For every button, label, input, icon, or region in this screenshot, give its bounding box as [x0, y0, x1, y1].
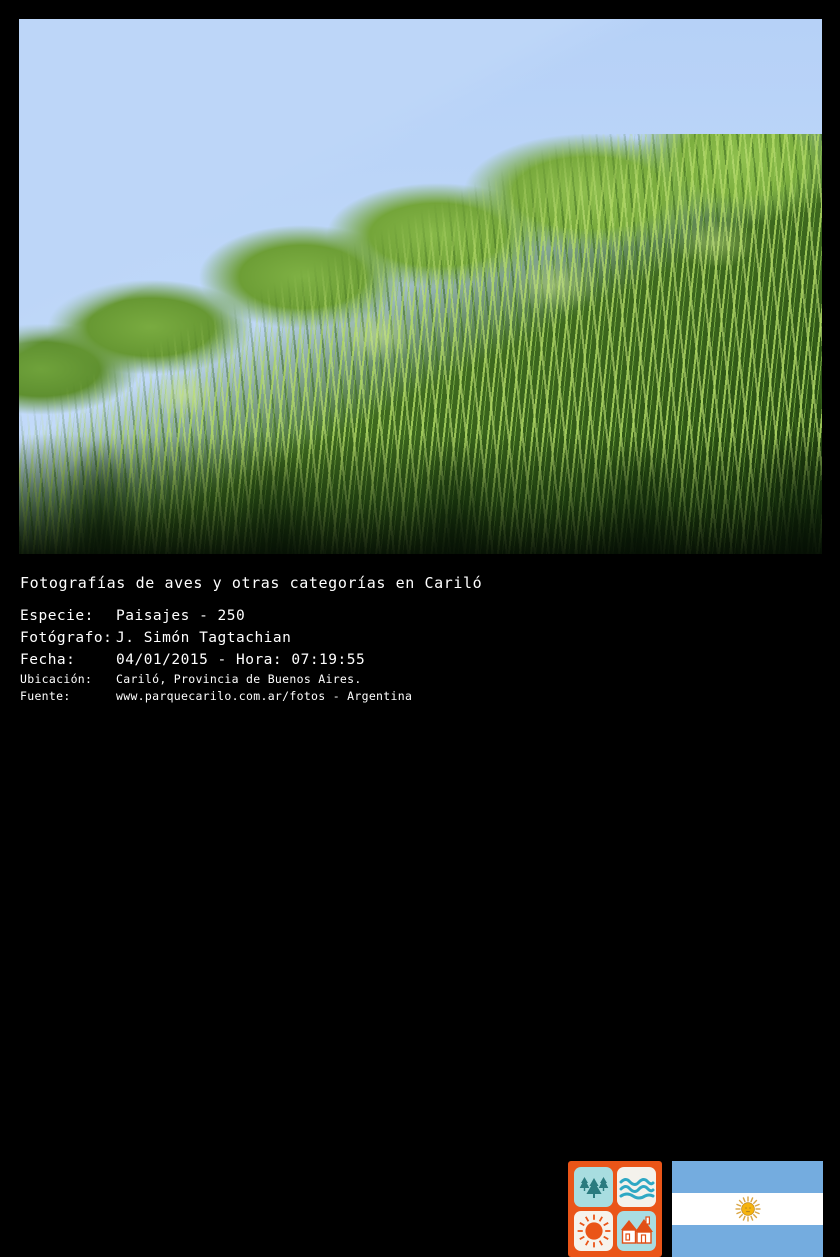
- table-row: Especie: Paisajes - 250: [20, 605, 412, 627]
- meta-label-ubicacion: Ubicación:: [20, 671, 116, 688]
- table-row: Fecha: 04/01/2015 - Hora: 07:19:55: [20, 649, 412, 671]
- logo-tile-house: [617, 1211, 656, 1251]
- flag-stripe-bottom: [672, 1225, 823, 1257]
- skyline-edge: [19, 19, 822, 439]
- logo-tile-sun: [574, 1211, 613, 1251]
- table-row: Ubicación: Cariló, Provincia de Buenos A…: [20, 671, 412, 688]
- meta-value-ubicacion: Cariló, Provincia de Buenos Aires.: [116, 671, 412, 688]
- page-title: Fotografías de aves y otras categorías e…: [20, 574, 482, 592]
- flag-stripe-top: [672, 1161, 823, 1193]
- meta-label-fotografo: Fotógrafo:: [20, 627, 116, 649]
- table-row: Fuente: www.parquecarilo.com.ar/fotos - …: [20, 688, 412, 705]
- meta-value-fuente: www.parquecarilo.com.ar/fotos - Argentin…: [116, 688, 412, 705]
- meta-label-fuente: Fuente:: [20, 688, 116, 705]
- argentina-flag: [672, 1161, 823, 1257]
- caption-panel: Fotografías de aves y otras categorías e…: [0, 560, 840, 708]
- metadata-table: Especie: Paisajes - 250 Fotógrafo: J. Si…: [20, 605, 412, 705]
- meta-label-fecha: Fecha:: [20, 649, 116, 671]
- parque-carilo-logo[interactable]: [568, 1161, 662, 1257]
- logo-tile-trees: [574, 1167, 613, 1207]
- meta-label-especie: Especie:: [20, 605, 116, 627]
- meta-value-fotografo: J. Simón Tagtachian: [116, 627, 412, 649]
- table-row: Fotógrafo: J. Simón Tagtachian: [20, 627, 412, 649]
- logo-tile-waves: [617, 1167, 656, 1207]
- house-icon: [619, 1215, 655, 1247]
- waves-icon: [619, 1174, 655, 1200]
- meta-value-especie: Paisajes - 250: [116, 605, 412, 627]
- photograph: [19, 19, 822, 554]
- pine-trees-icon: [577, 1170, 611, 1204]
- meta-value-fecha: 04/01/2015 - Hora: 07:19:55: [116, 649, 412, 671]
- canopy-understory: [19, 434, 822, 554]
- flag-stripe-middle: [672, 1193, 823, 1225]
- sun-icon: [577, 1214, 611, 1248]
- sun-of-may-icon: [735, 1196, 761, 1222]
